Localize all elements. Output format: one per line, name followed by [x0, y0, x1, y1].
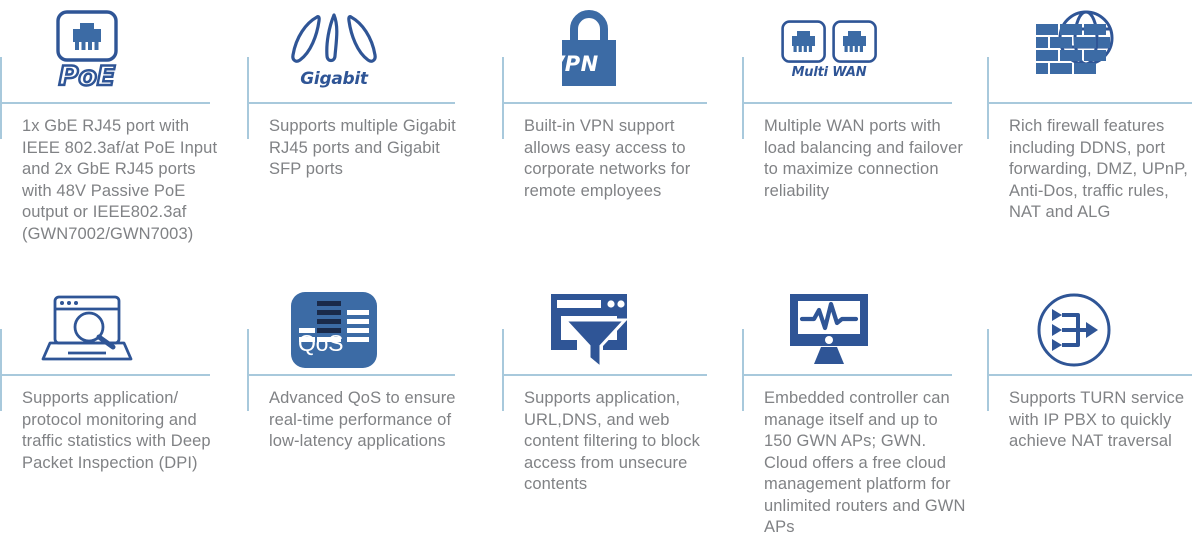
card-divider-vertical	[987, 329, 989, 411]
brick-wall-globe-icon	[1009, 2, 1139, 98]
feature-card-gigabit: Gigabit Supports multiple Gigabit RJ45 p…	[247, 0, 502, 272]
padlock-vpn-icon: VPN	[524, 2, 654, 98]
card-divider-vertical	[987, 57, 989, 139]
gigabit-petals-icon: Gigabit	[269, 2, 399, 98]
feature-description: Supports application, URL,DNS, and web c…	[524, 388, 724, 496]
monitor-pulse-icon	[764, 282, 894, 378]
card-divider-vertical	[742, 329, 744, 411]
card-divider-horizontal	[247, 102, 455, 104]
feature-card-dpi: Supports application/ protocol monitorin…	[0, 272, 247, 544]
card-divider-horizontal	[0, 374, 210, 376]
feature-description: Embedded controller can manage itself an…	[764, 388, 969, 539]
feature-card-turn-service: Supports TURN service with IP PBX to qui…	[987, 272, 1200, 544]
card-divider-horizontal	[742, 102, 952, 104]
browser-funnel-icon	[524, 282, 654, 378]
card-divider-vertical	[247, 57, 249, 139]
feature-row-1: PoE 1x GbE RJ45 port with IEEE 802.3af/a…	[0, 0, 1200, 272]
feature-description: Supports application/ protocol monitorin…	[22, 388, 222, 474]
multi-wan-icon-label: Multi WAN	[792, 66, 867, 80]
card-divider-vertical	[502, 329, 504, 411]
card-divider-horizontal	[502, 374, 707, 376]
card-divider-horizontal	[987, 374, 1192, 376]
card-divider-vertical	[502, 57, 504, 139]
feature-description: Rich firewall features including DDNS, p…	[1009, 116, 1200, 224]
nat-traversal-arrows-icon	[1009, 282, 1139, 378]
feature-card-poe: PoE 1x GbE RJ45 port with IEEE 802.3af/a…	[0, 0, 247, 272]
gigabit-icon-label: Gigabit	[300, 70, 367, 88]
card-divider-vertical	[247, 329, 249, 411]
feature-card-multi-wan: Multi WAN Multiple WAN ports with load b…	[742, 0, 987, 272]
feature-card-embedded-controller: Embedded controller can manage itself an…	[742, 272, 987, 544]
equalizer-qos-icon: QoS	[269, 282, 399, 378]
laptop-magnifier-icon	[22, 282, 152, 378]
feature-grid: PoE 1x GbE RJ45 port with IEEE 802.3af/a…	[0, 0, 1200, 544]
feature-row-2: Supports application/ protocol monitorin…	[0, 272, 1200, 544]
feature-description: 1x GbE RJ45 port with IEEE 802.3af/at Po…	[22, 116, 222, 245]
card-divider-horizontal	[987, 102, 1192, 104]
dual-rj45-icon: Multi WAN	[764, 2, 894, 98]
card-divider-horizontal	[502, 102, 707, 104]
card-divider-vertical	[0, 57, 2, 139]
feature-description: Advanced QoS to ensure real-time perform…	[269, 388, 469, 453]
rj45-poe-icon: PoE	[22, 2, 152, 98]
card-divider-horizontal	[247, 374, 455, 376]
card-divider-vertical	[742, 57, 744, 139]
feature-description: Built-in VPN support allows easy access …	[524, 116, 724, 202]
card-divider-horizontal	[742, 374, 952, 376]
feature-card-vpn: VPN Built-in VPN support allows easy acc…	[502, 0, 742, 272]
card-divider-horizontal	[0, 102, 210, 104]
poe-icon-label: PoE	[59, 63, 116, 90]
feature-card-qos: QoS Advanced QoS to ensure real-time per…	[247, 272, 502, 544]
feature-card-content-filtering: Supports application, URL,DNS, and web c…	[502, 272, 742, 544]
feature-card-firewall: Rich firewall features including DDNS, p…	[987, 0, 1200, 272]
feature-description: Supports multiple Gigabit RJ45 ports and…	[269, 116, 469, 181]
feature-description: Multiple WAN ports with load balancing a…	[764, 116, 969, 202]
card-divider-vertical	[0, 329, 2, 411]
feature-description: Supports TURN service with IP PBX to qui…	[1009, 388, 1200, 453]
